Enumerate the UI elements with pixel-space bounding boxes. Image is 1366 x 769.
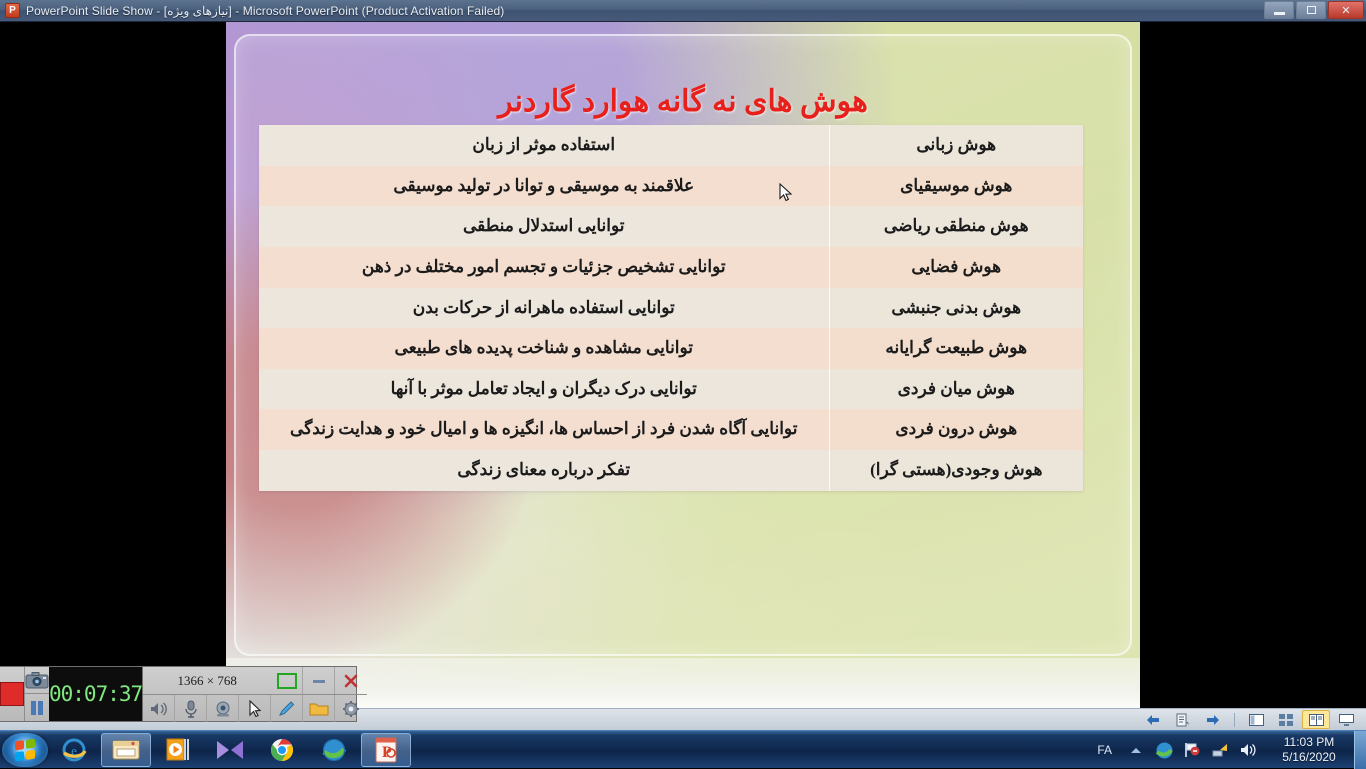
- intelligence-description: تفکر درباره معنای زندگی: [259, 450, 829, 491]
- start-button[interactable]: [2, 733, 48, 767]
- window-title-bar: P PowerPoint Slide Show - [نیازهای ویژه]…: [0, 0, 1366, 22]
- intelligence-name: هوش زبانی: [829, 125, 1083, 166]
- clock-time: 11:03 PM: [1268, 735, 1350, 750]
- region-icon: [277, 673, 297, 689]
- show-desktop-button[interactable]: [1354, 731, 1366, 769]
- stop-icon: [0, 682, 24, 706]
- minimize-icon: [1274, 12, 1285, 15]
- chevron-up-icon: [1130, 746, 1142, 755]
- speaker-icon: [148, 700, 170, 718]
- volume-icon[interactable]: [1237, 739, 1259, 761]
- recorder-cursor-button[interactable]: [239, 695, 271, 722]
- volume-glyph: [1239, 742, 1257, 758]
- movie-maker-icon: [215, 738, 245, 762]
- network-glyph: [1211, 742, 1229, 758]
- intelligence-name: هوش وجودی(هستی گرا): [829, 450, 1083, 491]
- table-row: هوش منطقی ریاضی توانایی استدلال منطقی: [259, 206, 1083, 247]
- capture-size-label: 1366 × 768: [143, 673, 271, 689]
- table-row: هوش میان فردی توانایی درک دیگران و ایجاد…: [259, 369, 1083, 410]
- windows-explorer-icon: [111, 737, 141, 763]
- arrow-left-icon: [1145, 714, 1161, 726]
- restore-button[interactable]: [1296, 1, 1326, 19]
- slideshow-view-icon: [1339, 714, 1354, 726]
- navbar-separator: [1234, 713, 1235, 727]
- recorder-stop-button[interactable]: [0, 667, 25, 721]
- clock-date: 5/16/2020: [1268, 750, 1350, 765]
- folder-icon: [309, 701, 329, 717]
- normal-view-icon: [1249, 714, 1264, 726]
- window-title: PowerPoint Slide Show - [نیازهای ویژه] -…: [26, 4, 504, 18]
- next-slide-button[interactable]: [1199, 710, 1227, 729]
- intelligence-name: هوش موسیقیای: [829, 166, 1083, 207]
- restore-icon: [1307, 6, 1316, 14]
- minimize-button[interactable]: [1264, 1, 1294, 19]
- arrow-right-icon: [1205, 714, 1221, 726]
- recorder-webcam-button[interactable]: [207, 695, 239, 722]
- language-indicator[interactable]: FA: [1097, 743, 1112, 757]
- intelligence-description: توانایی آگاه شدن فرد از احساس ها، انگیزه…: [259, 409, 829, 450]
- slide-show-canvas[interactable]: هوش های نه گانه هوارد گاردنر هوش زبانی ا…: [226, 22, 1140, 714]
- close-button[interactable]: ✕: [1328, 1, 1364, 19]
- intelligence-description: توانایی استدلال منطقی: [259, 206, 829, 247]
- idm-icon: [320, 736, 348, 764]
- intelligence-name: هوش فضایی: [829, 247, 1083, 288]
- windows-logo-icon: [15, 738, 35, 761]
- media-player-icon: [164, 737, 192, 763]
- recorder-settings-button[interactable]: [335, 695, 367, 722]
- internet-explorer-icon: e: [60, 736, 88, 764]
- screen-recorder-toolbar[interactable]: 00:07:37 1366 × 768: [0, 666, 357, 722]
- slide-sorter-icon: [1279, 714, 1294, 726]
- close-icon: [343, 673, 359, 689]
- action-center-flag-icon[interactable]: [1181, 739, 1203, 761]
- table-body: هوش زبانی استفاده موثر از زبان هوش موسیق…: [259, 125, 1083, 491]
- view-slideshow-button[interactable]: [1332, 710, 1360, 729]
- recorder-pen-button[interactable]: [271, 695, 303, 722]
- webcam-icon: [213, 700, 233, 718]
- reading-view-icon: [1309, 714, 1324, 726]
- intelligence-description: توانایی استفاده ماهرانه از حرکات بدن: [259, 288, 829, 329]
- window-controls: ✕: [1264, 1, 1364, 19]
- recorder-microphone-button[interactable]: [175, 695, 207, 722]
- pen-icon: [277, 700, 297, 718]
- recorder-controls: 1366 × 768: [143, 667, 367, 721]
- recorder-tool-row: [143, 695, 367, 722]
- table-row: هوش موسیقیای علاقمند به موسیقی و توانا د…: [259, 166, 1083, 207]
- table-row: هوش فضایی توانایی تشخیص جزئیات و تجسم ام…: [259, 247, 1083, 288]
- recorder-secondary-buttons: [25, 667, 49, 721]
- recorder-speaker-button[interactable]: [143, 695, 175, 722]
- table-row: هوش بدنی جنبشی توانایی استفاده ماهرانه ا…: [259, 288, 1083, 329]
- intelligence-description: توانایی مشاهده و شناخت پدیده های طبیعی: [259, 328, 829, 369]
- view-reading-button[interactable]: [1302, 710, 1330, 729]
- camera-icon: [25, 671, 49, 689]
- svg-text:e: e: [71, 743, 77, 758]
- recorder-top-row: 1366 × 768: [143, 667, 367, 695]
- table-row: هوش وجودی(هستی گرا) تفکر درباره معنای زن…: [259, 450, 1083, 491]
- idm-tray-icon[interactable]: [1153, 739, 1175, 761]
- cursor-icon: [248, 700, 262, 718]
- taskbar-item-movie-maker[interactable]: [205, 733, 255, 767]
- taskbar-item-windows-explorer[interactable]: [101, 733, 151, 767]
- flag-icon: [1183, 741, 1201, 759]
- taskbar-item-google-chrome[interactable]: [257, 733, 307, 767]
- previous-slide-button[interactable]: [1139, 710, 1167, 729]
- pause-icon: [28, 699, 46, 717]
- recorder-pause-button[interactable]: [25, 694, 49, 721]
- taskbar-clock[interactable]: 11:03 PM 5/16/2020: [1268, 735, 1350, 765]
- slideshow-menu-button[interactable]: [1169, 710, 1197, 729]
- settings-icon: [342, 700, 360, 718]
- system-tray: FA 11:03 PM 5/16/2020: [1097, 731, 1366, 769]
- table-row: هوش درون فردی توانایی آگاه شدن فرد از اح…: [259, 409, 1083, 450]
- slide-title: هوش های نه گانه هوارد گاردنر: [226, 84, 1140, 119]
- view-normal-button[interactable]: [1242, 710, 1270, 729]
- intelligence-description: توانایی درک دیگران و ایجاد تعامل موثر با…: [259, 369, 829, 410]
- mouse-cursor: [779, 183, 793, 203]
- taskbar-item-microsoft-powerpoint[interactable]: P: [361, 733, 411, 767]
- show-hidden-icons-button[interactable]: [1125, 739, 1147, 761]
- network-icon[interactable]: [1209, 739, 1231, 761]
- view-slide-sorter-button[interactable]: [1272, 710, 1300, 729]
- powerpoint-taskbar-icon: P: [372, 736, 400, 764]
- windows-taskbar: e: [0, 730, 1366, 768]
- idm-tray-glyph: [1155, 741, 1174, 760]
- recording-timer: 00:07:37: [49, 667, 143, 721]
- recorder-close-button[interactable]: [335, 667, 367, 694]
- minimize-icon: [310, 675, 328, 687]
- intelligence-description: استفاده موثر از زبان: [259, 125, 829, 166]
- google-chrome-icon: [268, 736, 296, 764]
- intelligence-name: هوش بدنی جنبشی: [829, 288, 1083, 329]
- recorder-camera-button[interactable]: [25, 667, 49, 694]
- microphone-icon: [183, 700, 199, 718]
- intelligence-name: هوش میان فردی: [829, 369, 1083, 410]
- recorder-minimize-button[interactable]: [303, 667, 335, 694]
- intelligence-description: علاقمند به موسیقی و توانا در تولید موسیق…: [259, 166, 829, 207]
- intelligence-name: هوش طبیعت گرایانه: [829, 328, 1083, 369]
- recorder-region-button[interactable]: [271, 667, 303, 694]
- intelligence-description: توانایی تشخیص جزئیات و تجسم امور مختلف د…: [259, 247, 829, 288]
- table-row: هوش زبانی استفاده موثر از زبان: [259, 125, 1083, 166]
- taskbar-item-media-player[interactable]: [153, 733, 203, 767]
- taskbar-item-internet-download-manager[interactable]: [309, 733, 359, 767]
- recorder-folder-button[interactable]: [303, 695, 335, 722]
- table-row: هوش طبیعت گرایانه توانایی مشاهده و شناخت…: [259, 328, 1083, 369]
- intelligence-name: هوش درون فردی: [829, 409, 1083, 450]
- intelligences-table: هوش زبانی استفاده موثر از زبان هوش موسیق…: [259, 125, 1083, 491]
- taskbar-item-internet-explorer[interactable]: e: [49, 733, 99, 767]
- powerpoint-icon: P: [5, 3, 20, 18]
- pen-menu-icon: [1176, 713, 1190, 727]
- intelligence-name: هوش منطقی ریاضی: [829, 206, 1083, 247]
